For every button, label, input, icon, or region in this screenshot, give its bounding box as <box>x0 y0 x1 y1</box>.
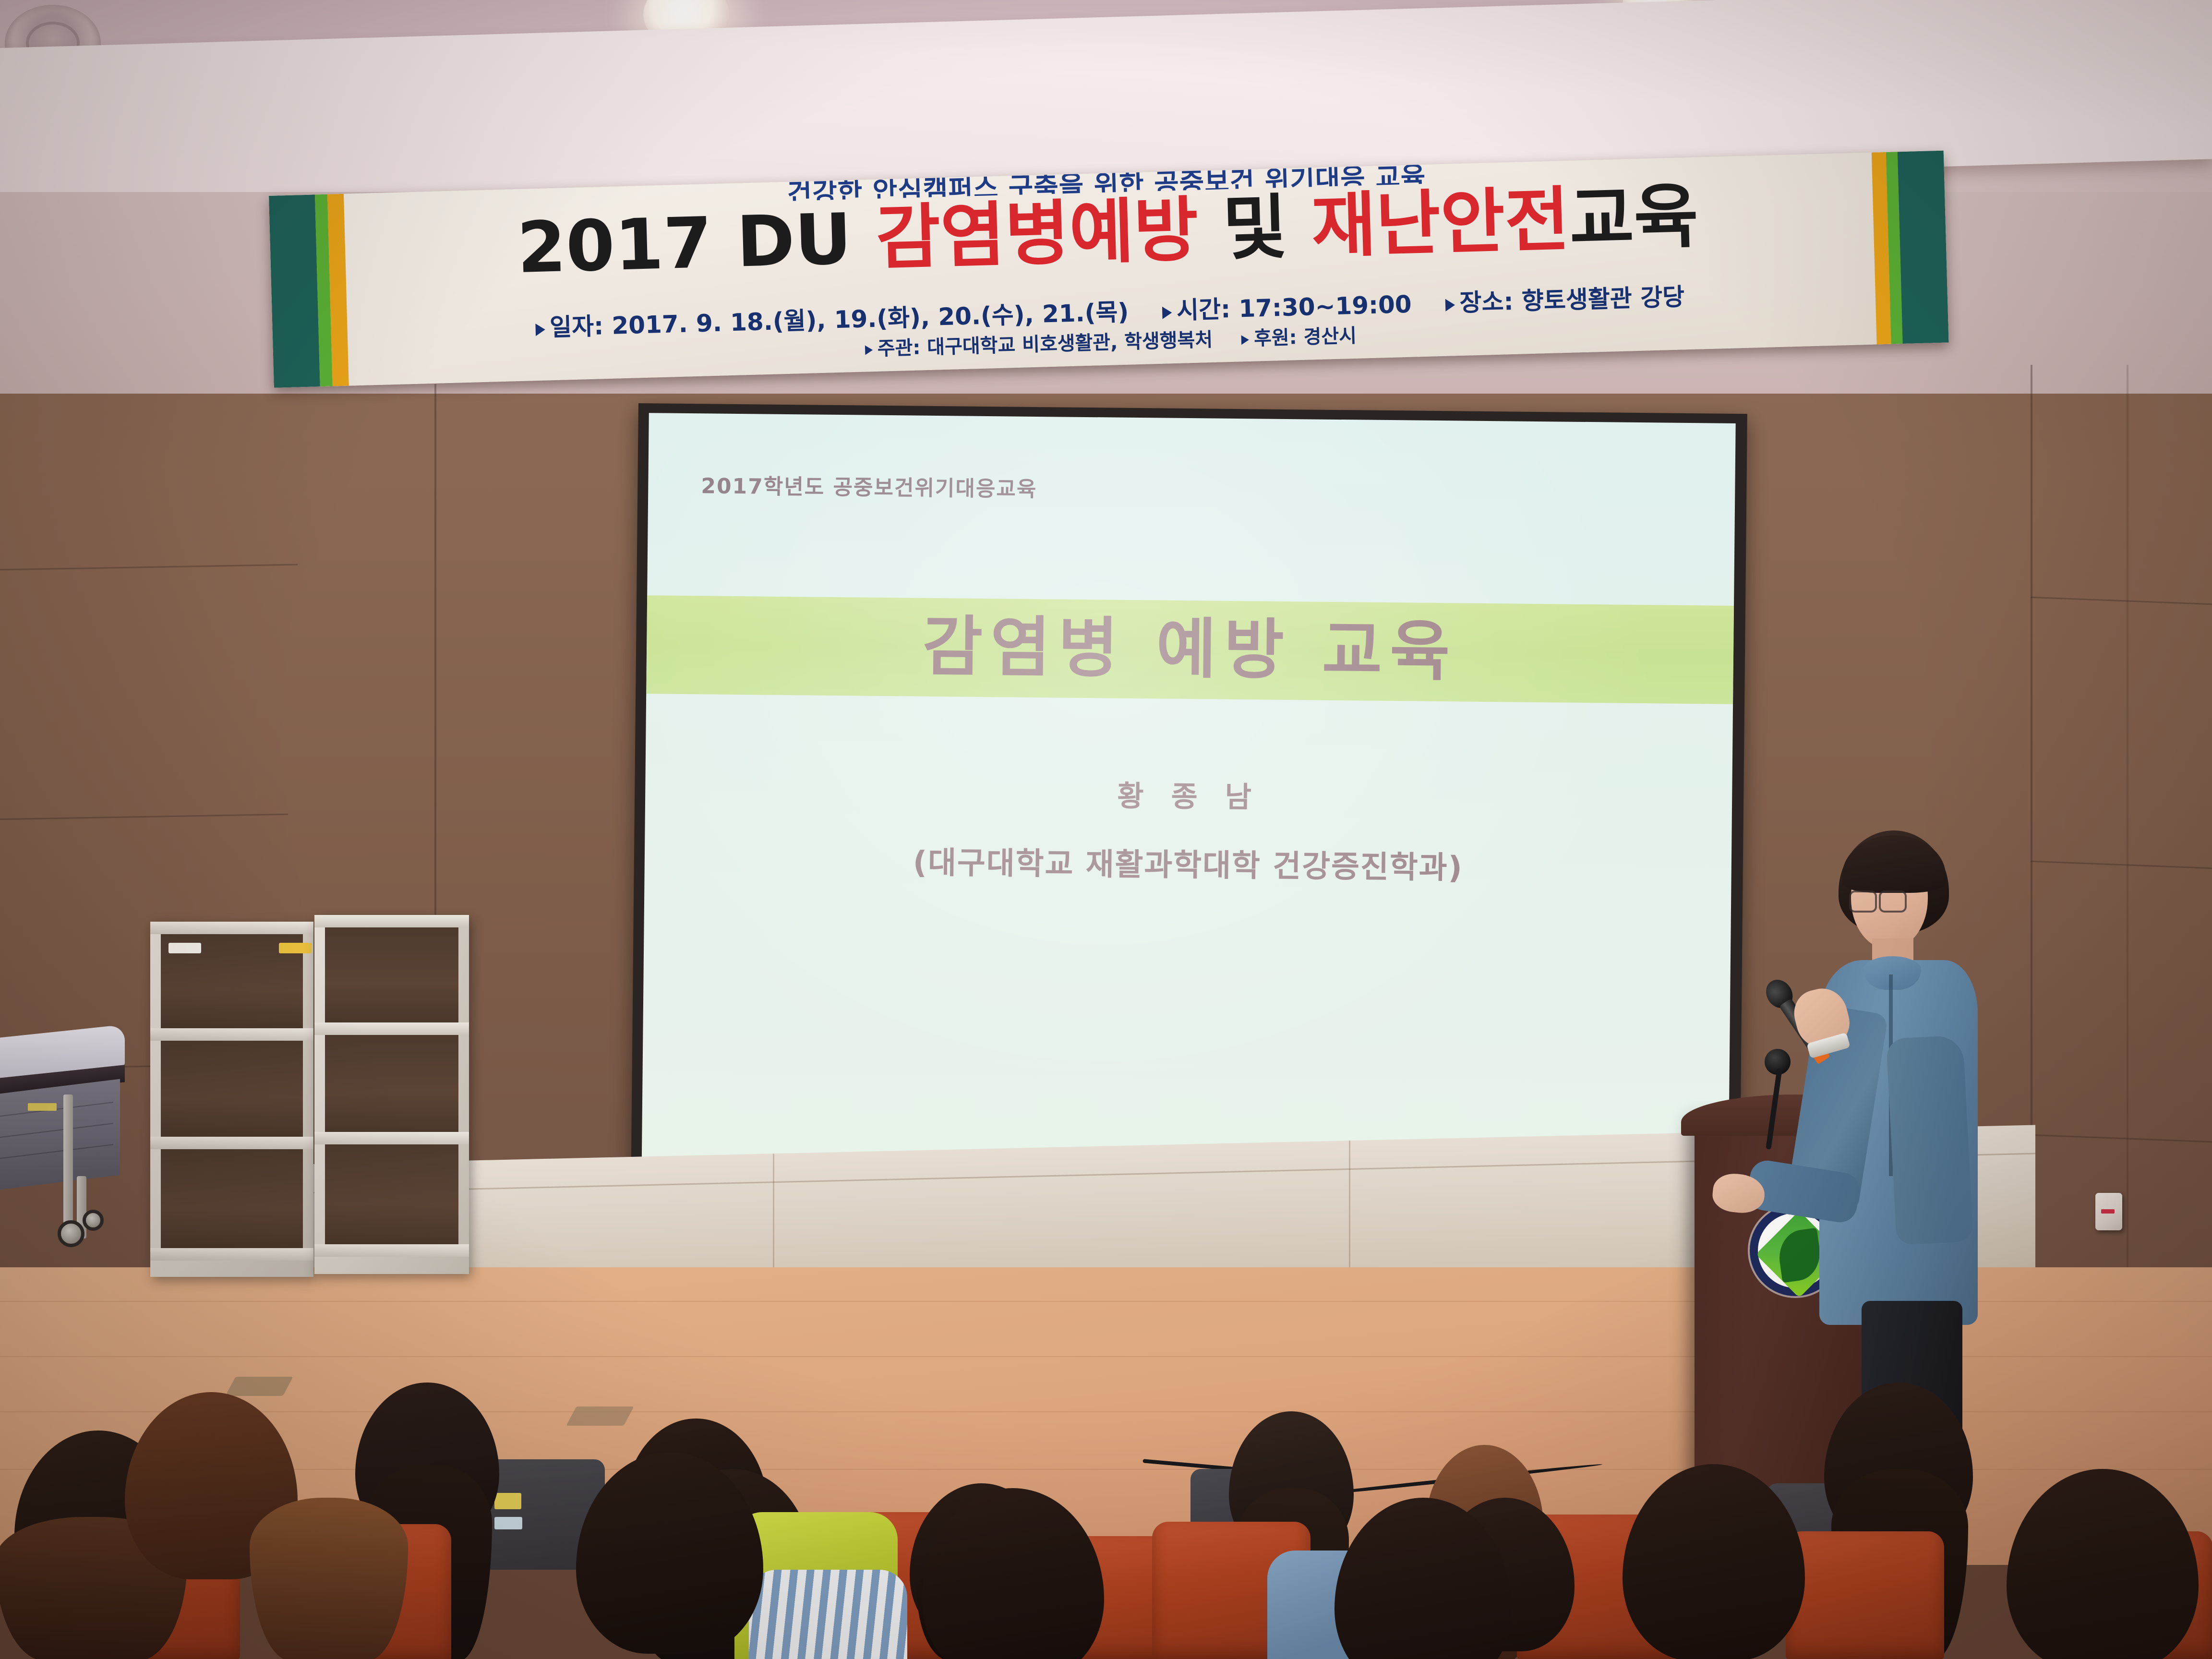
bed-caster-wheel <box>83 1210 104 1231</box>
light-switch[interactable] <box>2095 1193 2122 1230</box>
banner-title-red-2: 재난안전 <box>1310 179 1571 267</box>
audience-head-foreground <box>2007 1469 2199 1659</box>
shelf-board <box>150 1028 313 1041</box>
shelf-opening <box>161 1149 303 1248</box>
slide-speaker-name: 황 종 남 <box>645 768 1732 820</box>
shelving-unit-right <box>314 915 469 1274</box>
audience-head-foreground <box>922 1488 1104 1659</box>
slide-header: 2017학년도 공중보건위기대응교육 <box>701 469 1037 503</box>
bullet-triangle-icon <box>1445 299 1455 312</box>
bed-label-tag <box>28 1103 57 1111</box>
shelf-board <box>150 1248 313 1261</box>
audience-hair <box>1623 1464 1805 1659</box>
shelf-opening <box>325 1144 458 1244</box>
shelf-label-tag <box>279 943 312 953</box>
banner-title-red-1: 감염병예방 <box>875 189 1200 279</box>
banner-sponsor: 후원: 경산시 <box>1241 320 1357 351</box>
shelf-board <box>150 922 313 934</box>
shelf-board <box>150 1137 313 1149</box>
shelf-label-tag <box>168 943 201 953</box>
banner-title-mid: 및 <box>1197 186 1312 270</box>
speaker-hair-front <box>1842 835 1946 893</box>
lecture-hall-photo: 건강한 안심캠퍼스 구축을 위한 공중보건 위기대응 교육 2017 DU 감염… <box>0 0 2212 1659</box>
shelf-opening <box>325 1035 458 1132</box>
stage-wall-seam <box>1349 1141 1350 1285</box>
audience-hair <box>576 1452 763 1654</box>
shelf-opening <box>161 1041 303 1137</box>
wall-seam <box>2127 365 2128 1411</box>
examination-bed <box>0 1032 139 1258</box>
bullet-triangle-icon <box>865 345 873 355</box>
gooseneck-microphone <box>1771 1049 1779 1140</box>
shelf-board <box>314 1244 469 1257</box>
audience-hair <box>922 1488 1104 1659</box>
slide-speaker-affiliation: (대구대학교 재활과학대학 건강증진학과) <box>644 835 1731 890</box>
audience-head-foreground <box>1623 1464 1805 1659</box>
shelving-unit-left <box>150 922 313 1277</box>
bullet-triangle-icon <box>1162 306 1172 319</box>
bed-leg <box>63 1094 73 1238</box>
shelf-board <box>314 1022 469 1035</box>
speaker-left-arm <box>1886 1035 1973 1245</box>
audience-hair-long-dyed <box>250 1498 408 1659</box>
shelf-board <box>314 915 469 927</box>
audience-hair <box>1334 1498 1512 1659</box>
audience-head-foreground <box>1334 1498 1512 1659</box>
auditorium-seat[interactable] <box>1786 1531 1944 1659</box>
shelf-board <box>314 1132 469 1144</box>
audience-hair <box>2007 1469 2199 1659</box>
slide-title: 감염병 예방 교육 <box>646 609 1733 691</box>
projection-screen: 2017학년도 공중보건위기대응교육 감염병 예방 교육 황 종 남 (대구대학… <box>631 403 1747 1211</box>
bullet-triangle-icon <box>535 323 545 336</box>
eyeglasses-icon <box>1849 890 1910 910</box>
slide-surface: 2017학년도 공중보건위기대응교육 감염병 예방 교육 황 종 남 (대구대학… <box>641 413 1735 1200</box>
banner-title-year: 2017 DU <box>516 198 877 289</box>
banner-title-tail: 교육 <box>1568 175 1699 260</box>
shelf-opening <box>325 927 458 1022</box>
audience-shoulder-stripe <box>749 1570 907 1659</box>
bed-caster-wheel <box>58 1220 84 1247</box>
bed-side-panel <box>0 1079 120 1193</box>
bullet-triangle-icon <box>1241 335 1250 345</box>
audience-head-foreground <box>576 1452 763 1654</box>
